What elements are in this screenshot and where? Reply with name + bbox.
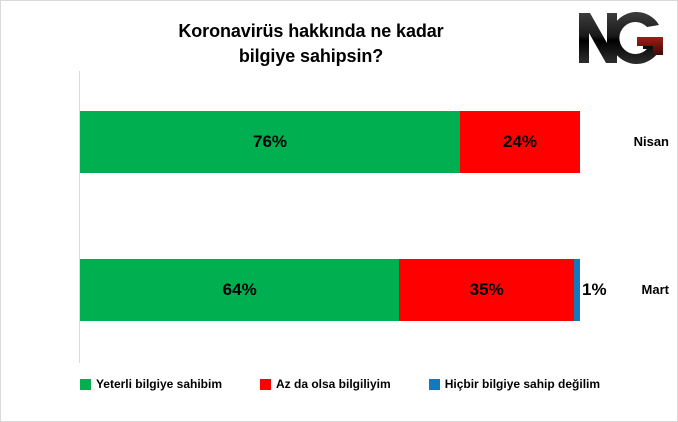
bar-segment-blue-mart[interactable]: 1% xyxy=(574,259,580,321)
table-row: 76% 24% xyxy=(80,111,580,173)
legend-label-hicbir: Hiçbir bilgiye sahip değilim xyxy=(445,377,600,391)
bar-label-blue-mart: 1% xyxy=(582,280,607,300)
ng-logo xyxy=(573,7,665,69)
bar-label-red-mart: 35% xyxy=(470,280,504,300)
legend-swatch-green xyxy=(80,379,91,390)
chart-title-line-1: Koronavirüs hakkında ne kadar xyxy=(91,19,531,44)
legend-swatch-red xyxy=(260,379,271,390)
legend-item-hicbir[interactable]: Hiçbir bilgiye sahip değilim xyxy=(429,377,600,391)
legend-item-yeterli[interactable]: Yeterli bilgiye sahibim xyxy=(80,377,222,391)
chart-title: Koronavirüs hakkında ne kadar bilgiye sa… xyxy=(91,19,531,69)
bar-segment-red-mart[interactable]: 35% xyxy=(399,259,574,321)
bar-segment-green-mart[interactable]: 64% xyxy=(80,259,399,321)
chart-legend: Yeterli bilgiye sahibim Az da olsa bilgi… xyxy=(1,377,678,391)
bar-label-green-mart: 64% xyxy=(223,280,257,300)
table-row: 64% 35% 1% xyxy=(80,259,580,321)
legend-label-az-da-olsa: Az da olsa bilgiliyim xyxy=(276,377,391,391)
category-label-mart: Mart xyxy=(642,282,669,297)
plot-area: 76% 24% 64% 35% 1% xyxy=(79,71,678,363)
chart-container: Koronavirüs hakkında ne kadar bilgiye sa… xyxy=(0,0,678,422)
category-label-nisan: Nisan xyxy=(634,134,669,149)
legend-swatch-blue xyxy=(429,379,440,390)
legend-item-az-da-olsa[interactable]: Az da olsa bilgiliyim xyxy=(260,377,391,391)
legend-label-yeterli: Yeterli bilgiye sahibim xyxy=(96,377,222,391)
bar-label-red-nisan: 24% xyxy=(503,132,537,152)
chart-title-line-2: bilgiye sahipsin? xyxy=(91,44,531,69)
bar-label-green-nisan: 76% xyxy=(253,132,287,152)
bar-segment-green-nisan[interactable]: 76% xyxy=(80,111,460,173)
bar-segment-red-nisan[interactable]: 24% xyxy=(460,111,580,173)
